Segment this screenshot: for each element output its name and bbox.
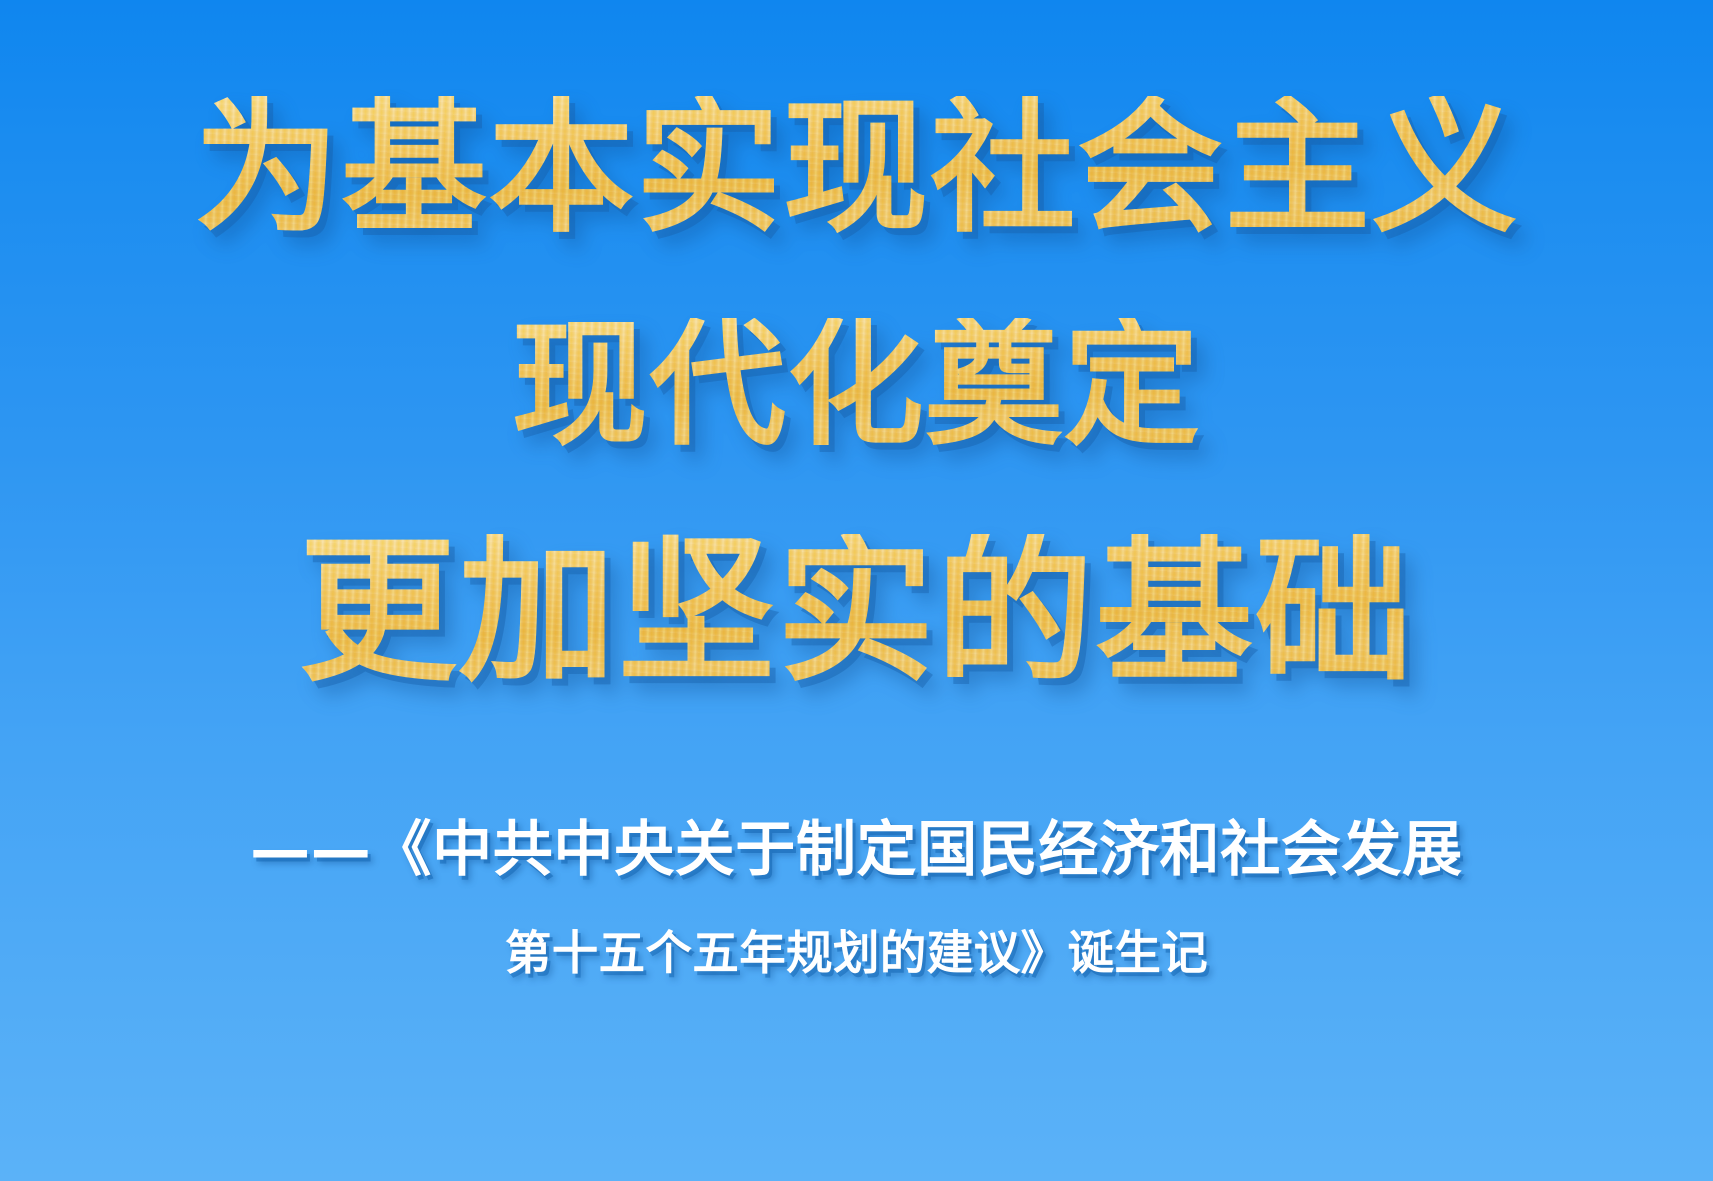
headline-line-1-text: 为基本实现社会主义	[194, 96, 1519, 241]
subheadline-line-1: ——《中共中央关于制定国民经济和社会发展	[0, 820, 1713, 880]
headline-line-3-text: 更加坚实的基础	[299, 534, 1414, 691]
headline-line-1: 为基本实现社会主义	[0, 96, 1713, 241]
headline-line-2: 现代化奠定	[0, 318, 1713, 454]
poster-canvas: 为基本实现社会主义 现代化奠定 更加坚实的基础 ——《中共中央关于制定国民经济和…	[0, 0, 1713, 1181]
headline-line-3: 更加坚实的基础	[0, 534, 1713, 691]
subheadline-line-2: 第十五个五年规划的建议》诞生记	[0, 930, 1713, 976]
headline-line-2-text: 现代化奠定	[512, 318, 1202, 454]
